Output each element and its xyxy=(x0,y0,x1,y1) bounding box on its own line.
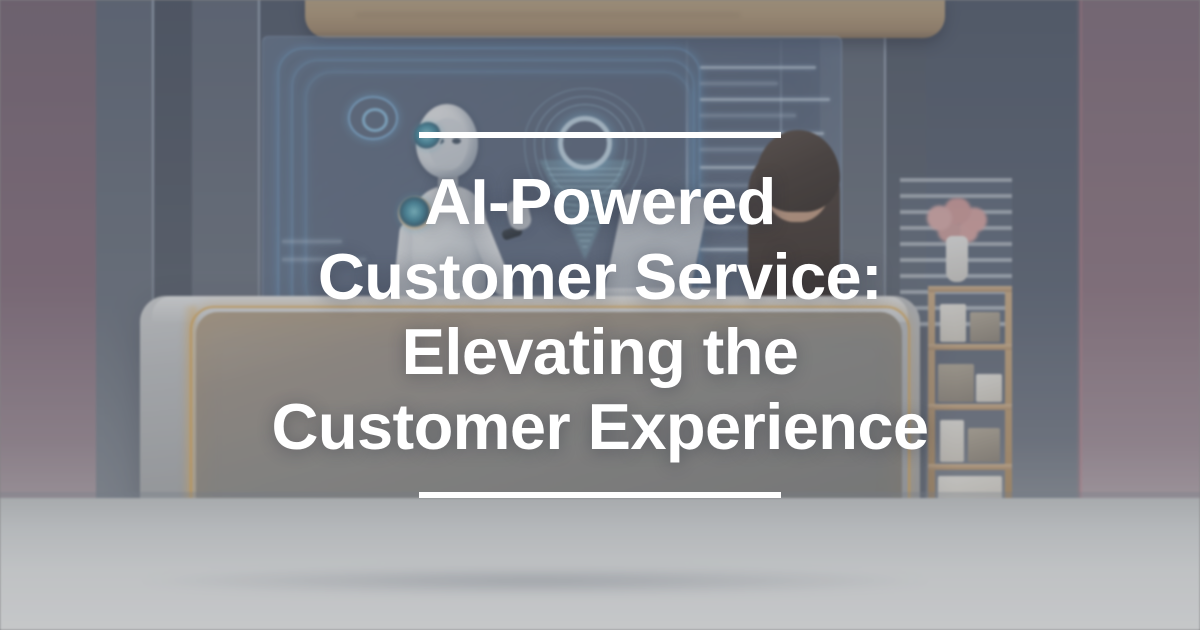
top-divider-rule xyxy=(419,132,781,138)
headline-overlay: AI-Powered Customer Service: Elevating t… xyxy=(0,0,1200,630)
bottom-divider-rule xyxy=(419,492,781,498)
page-title: AI-Powered Customer Service: Elevating t… xyxy=(272,164,929,464)
headline-line-2: Customer Service: xyxy=(272,239,929,314)
headline-line-4: Customer Experience xyxy=(272,389,929,464)
headline-line-3: Elevating the xyxy=(272,314,929,389)
promo-banner: AI-Powered Customer Service: Elevating t… xyxy=(0,0,1200,630)
headline-line-1: AI-Powered xyxy=(272,164,929,239)
